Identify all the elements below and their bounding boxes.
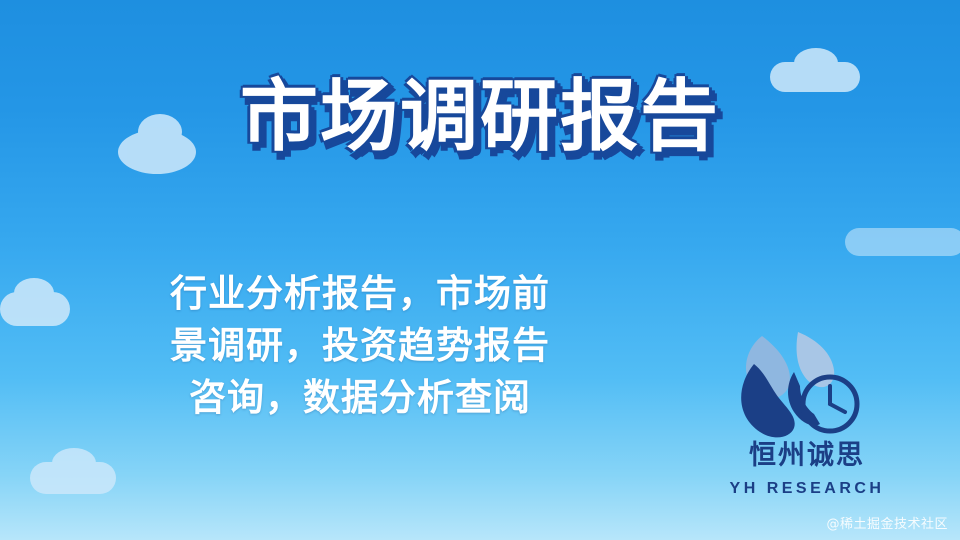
brand-name-en: YH RESEARCH bbox=[702, 480, 912, 498]
watermark-text: @稀土掘金技术社区 bbox=[826, 513, 948, 532]
subhead-line: 景调研，投资趋势报告 bbox=[10, 320, 710, 372]
brand-name-cn: 恒州诚思 bbox=[702, 433, 912, 472]
leaf-swirl-clock-icon bbox=[702, 328, 912, 448]
poster-canvas: 市场调研报告 行业分析报告，市场前 景调研，投资趋势报告 咨询，数据分析查阅 恒… bbox=[0, 0, 960, 540]
page-title: 市场调研报告 bbox=[230, 78, 730, 156]
cloud-icon bbox=[30, 462, 116, 494]
cloud-icon bbox=[845, 228, 960, 256]
subhead-container: 行业分析报告，市场前 景调研，投资趋势报告 咨询，数据分析查阅 bbox=[0, 268, 710, 424]
subhead-line: 行业分析报告，市场前 bbox=[10, 268, 710, 320]
headline-container: 市场调研报告 bbox=[0, 78, 960, 156]
subhead-line: 咨询，数据分析查阅 bbox=[10, 372, 710, 424]
brand-logo: 恒州诚思 YH RESEARCH bbox=[702, 328, 912, 498]
